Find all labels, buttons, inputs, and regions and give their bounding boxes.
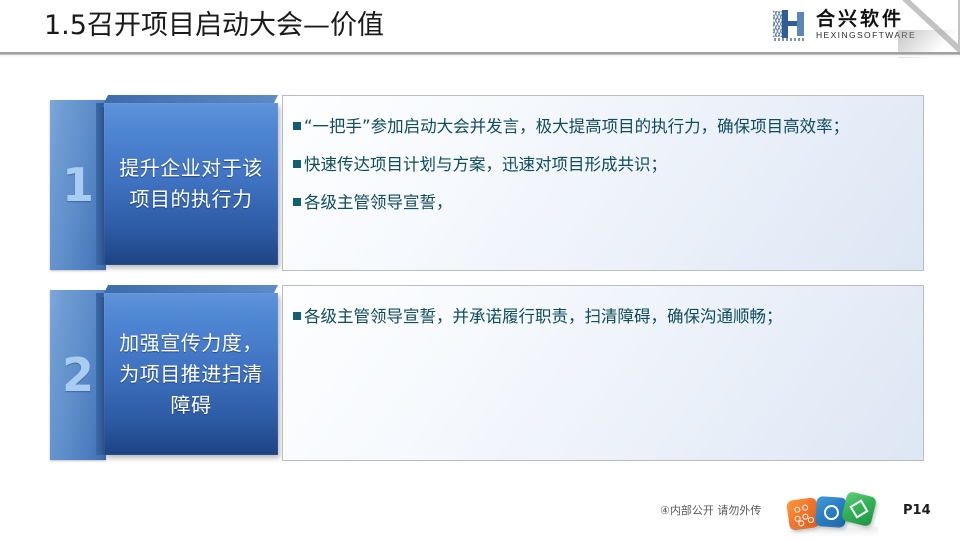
green-diamond-cube-icon [841,491,877,527]
logo-h-glyph-icon [781,10,805,38]
bullet-text: 快速传达项目计划与方案，迅速对项目形成共识； [304,155,667,174]
slide-canvas: 1.5召开项目启动大会—价值 合兴软件 HEXINGSOFTWARE [0,0,960,540]
bullet-item: 快速传达项目计划与方案，迅速对项目形成共识； [293,146,909,184]
bullet-square-icon [293,122,301,130]
page-number: P14 [903,503,931,519]
block-label-text-2: 加强宣传力度，为项目推进扫清障碍 [117,328,265,421]
diamond-glyph-icon [849,499,868,518]
slide-footer: ④内部公开 请勿外传 [0,495,960,540]
bullet-text: “一把手”参加启动大会并发言，极大提高项目的执行力，确保项目高效率； [304,117,849,136]
content-row-2: 2 加强宣传力度，为项目推进扫清障碍 各级主管领导宣誓，并承诺履行职责，扫清障碍… [0,285,960,463]
block-content-panel-1: “一把手”参加启动大会并发言，极大提高项目的执行力，确保项目高效率； 快速传达项… [282,95,924,271]
block-content-panel-2: 各级主管领导宣誓，并承诺履行职责，扫清障碍，确保沟通顺畅； [282,285,924,461]
bullet-square-icon [293,312,301,320]
content-row-1: 1 提升企业对于该项目的执行力 “一把手”参加启动大会并发言，极大提高项目的执行… [0,95,960,273]
bullet-text: 各级主管领导宣誓， [304,193,453,212]
block-label-cube-2: 加强宣传力度，为项目推进扫清障碍 [96,285,278,463]
bullet-square-icon [293,160,301,168]
block-label-text-1: 提升企业对于该项目的执行力 [117,153,265,215]
confidentiality-note: ④内部公开 请勿外传 [660,503,761,519]
bullet-text: 各级主管领导宣誓，并承诺履行职责，扫清障碍，确保沟通顺畅； [304,307,783,326]
cloud-glyph-icon [823,504,839,520]
bullet-item: 各级主管领导宣誓，并承诺履行职责，扫清障碍，确保沟通顺畅； [293,298,909,336]
bullet-item: 各级主管领导宣誓， [293,184,909,222]
bullet-square-icon [293,198,301,206]
block-label-cube-1: 提升企业对于该项目的执行力 [96,95,278,273]
header-divider-highlight [0,55,960,57]
page-curl-decoration [898,0,960,58]
hexing-h-logo-icon [772,7,814,43]
cubes-reflection [790,527,878,536]
page-title: 1.5召开项目启动大会—价值 [44,8,384,44]
slide-header: 1.5召开项目启动大会—价值 合兴软件 HEXINGSOFTWARE [0,0,960,54]
bullet-item: “一把手”参加启动大会并发言，极大提高项目的执行力，确保项目高效率； [293,108,909,146]
logo-underline-icon [774,38,804,41]
footer-decor-cubes [786,493,886,538]
